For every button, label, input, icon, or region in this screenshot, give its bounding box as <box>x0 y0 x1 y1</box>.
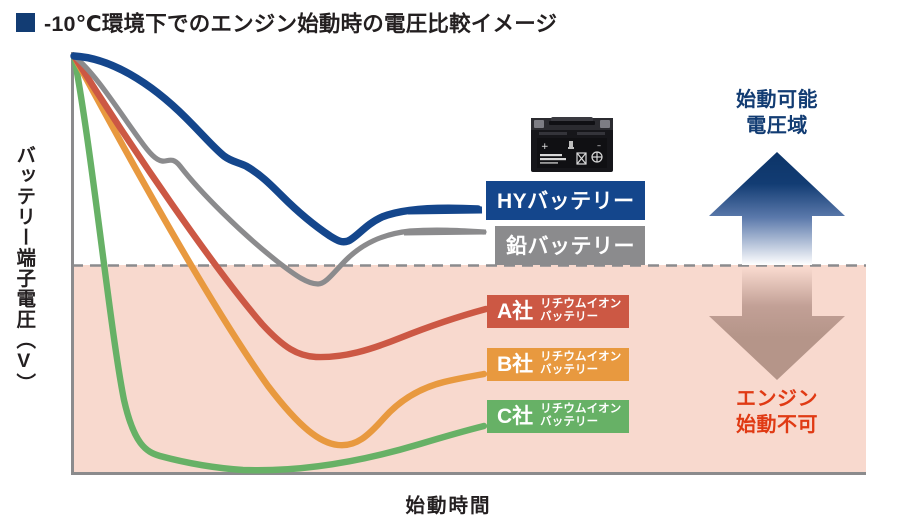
legend-sub-c-line2: バッテリー <box>540 416 598 428</box>
y-axis-title: バッテリー端子電圧（V） <box>6 104 40 434</box>
legend-chip-lead-battery[interactable]: 鉛バッテリー <box>495 226 645 265</box>
legend-company-c: C社 <box>497 406 533 427</box>
legend-company-b: B社 <box>497 354 533 375</box>
not-startable-annotation-line1: エンジン <box>736 388 818 410</box>
legend-chip-company-a[interactable]: A社 リチウムイオン バッテリー <box>487 295 629 328</box>
startable-annotation-line1: 始動可能 <box>736 89 818 111</box>
startable-annotation-line2: 電圧域 <box>746 115 808 137</box>
legend-sub-b: リチウムイオン バッテリー <box>540 351 621 378</box>
battery-product-photo: + – <box>525 110 619 176</box>
not-startable-annotation-line2: 始動不可 <box>736 414 818 436</box>
legend-sub-a-line1: リチウムイオン <box>540 298 621 310</box>
legend-sub-a-line2: バッテリー <box>540 311 598 323</box>
not-startable-annotation: エンジン 始動不可 <box>692 386 862 439</box>
x-axis-title: 始動時間 <box>0 489 897 518</box>
legend-sub-b-line1: リチウムイオン <box>540 351 621 363</box>
svg-text:+: + <box>541 142 549 152</box>
legend-chip-company-b[interactable]: B社 リチウムイオン バッテリー <box>487 348 629 381</box>
legend-chip-hy-battery[interactable]: HYバッテリー <box>486 181 645 220</box>
legend-connector-hy <box>408 210 482 211</box>
legend-label-hy: HYバッテリー <box>497 185 635 215</box>
legend-sub-c: リチウムイオン バッテリー <box>540 403 621 430</box>
legend-sub-c-line1: リチウムイオン <box>540 403 621 415</box>
legend-label-pb: 鉛バッテリー <box>506 230 635 260</box>
legend-company-a: A社 <box>497 301 533 322</box>
svg-text:–: – <box>597 141 601 150</box>
voltage-comparison-plot <box>0 0 897 529</box>
legend-chip-company-c[interactable]: C社 リチウムイオン バッテリー <box>487 400 629 433</box>
legend-sub-b-line2: バッテリー <box>540 364 598 376</box>
legend-sub-a: リチウムイオン バッテリー <box>540 298 621 325</box>
chart-area: バッテリー端子電圧（V） 始動時間 + – HYバッテリー <box>0 0 897 529</box>
legend-connector-pb <box>404 232 486 233</box>
startable-voltage-annotation: 始動可能 電圧域 <box>692 87 862 139</box>
